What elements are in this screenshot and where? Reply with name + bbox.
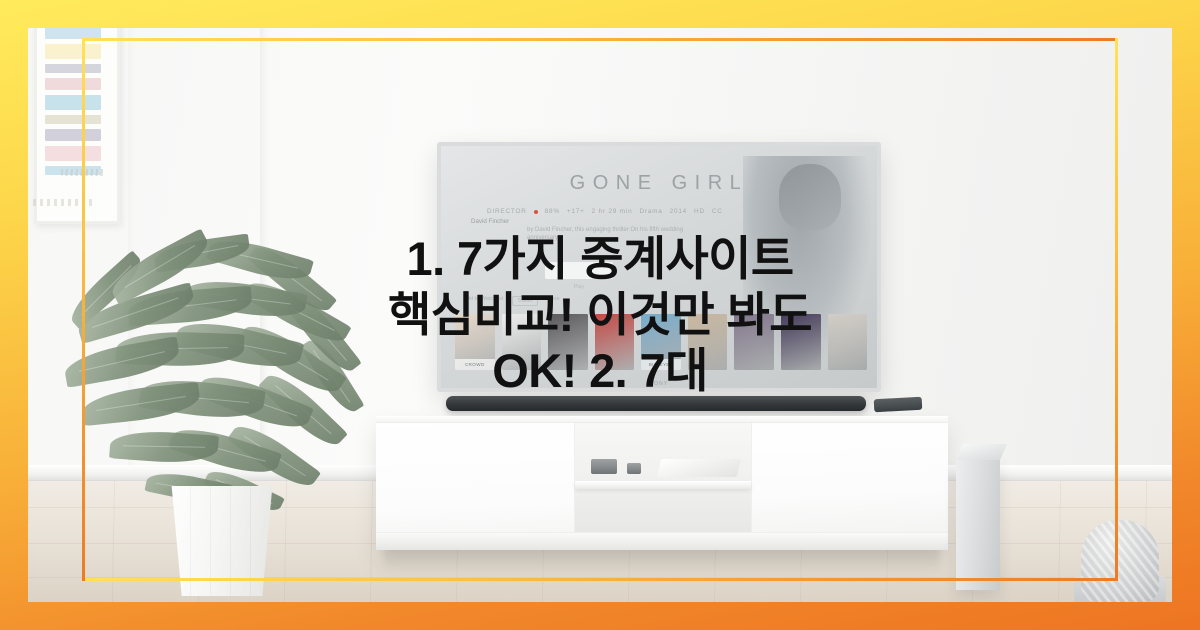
- media-device: [591, 459, 617, 474]
- poster-thumbnail[interactable]: CROWD: [455, 314, 495, 370]
- chip-more[interactable]: More: [547, 296, 560, 306]
- poster-thumbnail[interactable]: [828, 314, 868, 370]
- thumbnail-card: GONE GIRL DIRECTOR 88% +17+ 2 hr 29 min …: [0, 0, 1200, 630]
- console-base: [376, 532, 948, 550]
- poster-thumbnail[interactable]: BIG EYES: [641, 314, 681, 370]
- movie-description: by David Fincher, this engaging thriller…: [527, 226, 695, 243]
- poster-thumbnail[interactable]: [688, 314, 728, 370]
- poster-thumbnail[interactable]: [548, 314, 588, 370]
- plant-leaf: [81, 382, 202, 426]
- speaker-top: [956, 444, 1007, 460]
- play-button[interactable]: [545, 262, 613, 279]
- knitted-pouf: [1081, 520, 1159, 602]
- art-stripe: [45, 146, 101, 161]
- poster-carousel: CROWDBIG EYES: [455, 314, 867, 370]
- plant-leaf: [109, 428, 219, 465]
- meta-director-label: DIRECTOR: [487, 208, 527, 215]
- rating-dot-icon: [534, 210, 538, 214]
- movie-meta-row: DIRECTOR 88% +17+ 2 hr 29 min Drama 2014…: [487, 208, 723, 215]
- poster-thumbnail[interactable]: [734, 314, 774, 370]
- movie-title: GONE GIRL: [441, 172, 877, 195]
- art-stripe: [45, 44, 101, 59]
- tv-screen: GONE GIRL DIRECTOR 88% +17+ 2 hr 29 min …: [441, 146, 877, 388]
- potted-houseplant: [58, 236, 358, 596]
- poster-thumbnail[interactable]: [595, 314, 635, 370]
- soundbar: [446, 396, 866, 411]
- disc-player: [657, 459, 741, 477]
- chip-trailer[interactable]: Trailer: [512, 296, 538, 306]
- wall-art-frame: [34, 28, 120, 224]
- art-stripe: [45, 95, 101, 110]
- pouf-knit-texture: [1081, 520, 1159, 602]
- meta-year: 2014: [670, 208, 687, 215]
- media-device: [627, 463, 641, 474]
- television: GONE GIRL DIRECTOR 88% +17+ 2 hr 29 min …: [437, 142, 881, 392]
- meta-age-rating: +17+: [567, 208, 585, 215]
- tv-console: [376, 416, 948, 550]
- meta-genre: Drama: [639, 208, 662, 215]
- poster-label: BIG EYES: [641, 359, 681, 370]
- floor-speaker: [956, 458, 1000, 590]
- meta-runtime: 2 hr 29 min: [592, 208, 633, 215]
- artist-signature: [61, 169, 105, 176]
- plant-pot: [166, 486, 278, 596]
- art-stripe: [45, 78, 101, 90]
- poster-label: CROWD: [455, 359, 495, 370]
- background-photo: GONE GIRL DIRECTOR 88% +17+ 2 hr 29 min …: [28, 28, 1172, 602]
- poster-thumbnail[interactable]: [781, 314, 821, 370]
- wall-art-stripes: [45, 28, 101, 161]
- art-stripe: [45, 64, 101, 73]
- art-stripe: [45, 129, 101, 141]
- cc-badge-icon: CC: [712, 208, 723, 215]
- art-caption: [33, 199, 95, 206]
- tv-action-chips: Add to Watchlist Trailer More: [463, 296, 560, 306]
- console-top-surface: [376, 416, 948, 423]
- meta-rating: 88%: [545, 208, 560, 215]
- play-button-label: Play: [545, 284, 613, 290]
- remote-control: [874, 397, 923, 412]
- art-stripe: [45, 28, 101, 39]
- tv-brand-logo: SONY: [441, 381, 877, 387]
- movie-director: David Fincher: [471, 218, 509, 225]
- hd-badge-icon: HD: [694, 208, 705, 215]
- chip-add-watchlist[interactable]: Add to Watchlist: [463, 296, 503, 306]
- poster-thumbnail[interactable]: [502, 314, 542, 370]
- bay-shelf: [575, 481, 751, 489]
- director-name: David Fincher: [471, 218, 509, 225]
- art-stripe: [45, 115, 101, 124]
- console-open-bay: [574, 423, 752, 535]
